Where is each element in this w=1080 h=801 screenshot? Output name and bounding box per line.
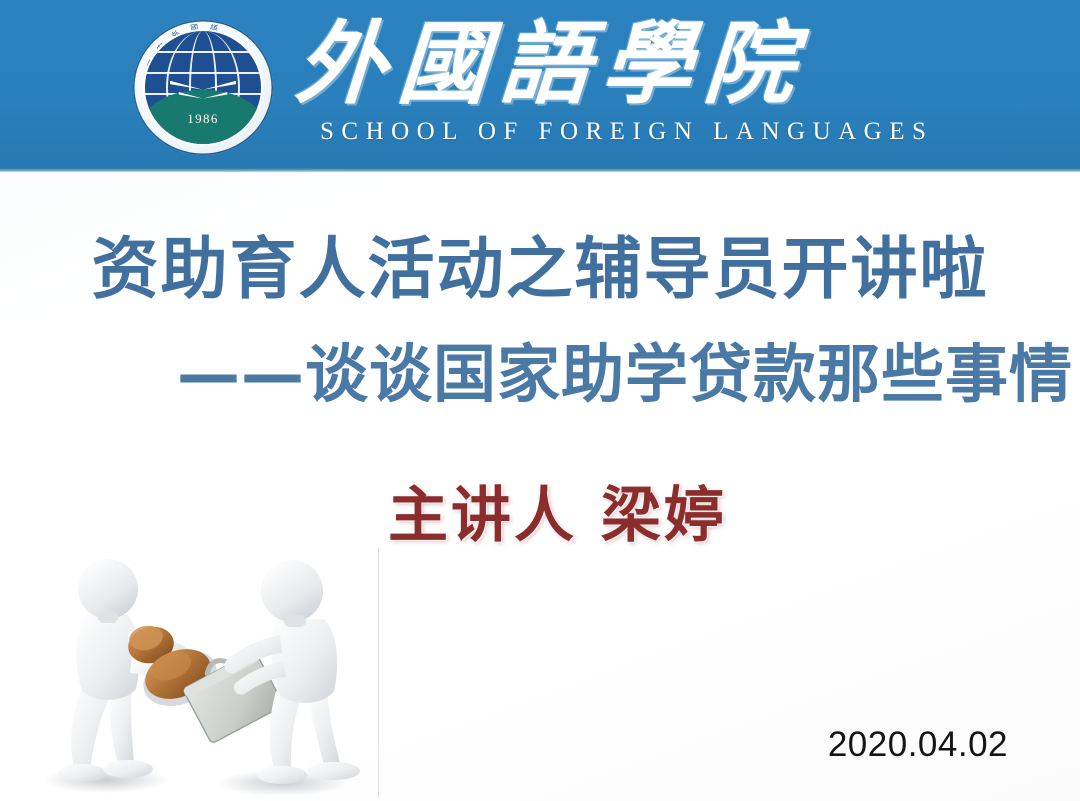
slide-sub-title: ——谈谈国家助学贷款那些事情 bbox=[0, 343, 1080, 406]
book-chevron-icon bbox=[170, 81, 236, 107]
institution-name-cn: 外國語學院 bbox=[292, 14, 939, 118]
slide-main-title: 资助育人活动之辅导员开讲啦 bbox=[0, 236, 1080, 303]
header-banner: 西 安 外 國 語 SCHOOL OF FOREIGN LANGUAGES bbox=[0, 0, 1080, 168]
banner-underline bbox=[0, 168, 1080, 172]
money-exchange-illustration bbox=[28, 535, 368, 801]
slide-date: 2020.04.02 bbox=[828, 727, 1008, 762]
institution-name-en: SCHOOL OF FOREIGN LANGUAGES bbox=[320, 118, 933, 146]
emblem-disc: 1986 bbox=[145, 31, 261, 144]
textbox-border-artifact bbox=[378, 548, 379, 798]
emblem-year-label: 1986 bbox=[145, 111, 261, 127]
presentation-slide: 西 安 外 國 語 SCHOOL OF FOREIGN LANGUAGES bbox=[0, 0, 1080, 801]
speaker-label: 主讲人 梁婷 bbox=[388, 486, 727, 546]
school-emblem: 西 安 外 國 語 SCHOOL OF FOREIGN LANGUAGES bbox=[133, 20, 273, 155]
